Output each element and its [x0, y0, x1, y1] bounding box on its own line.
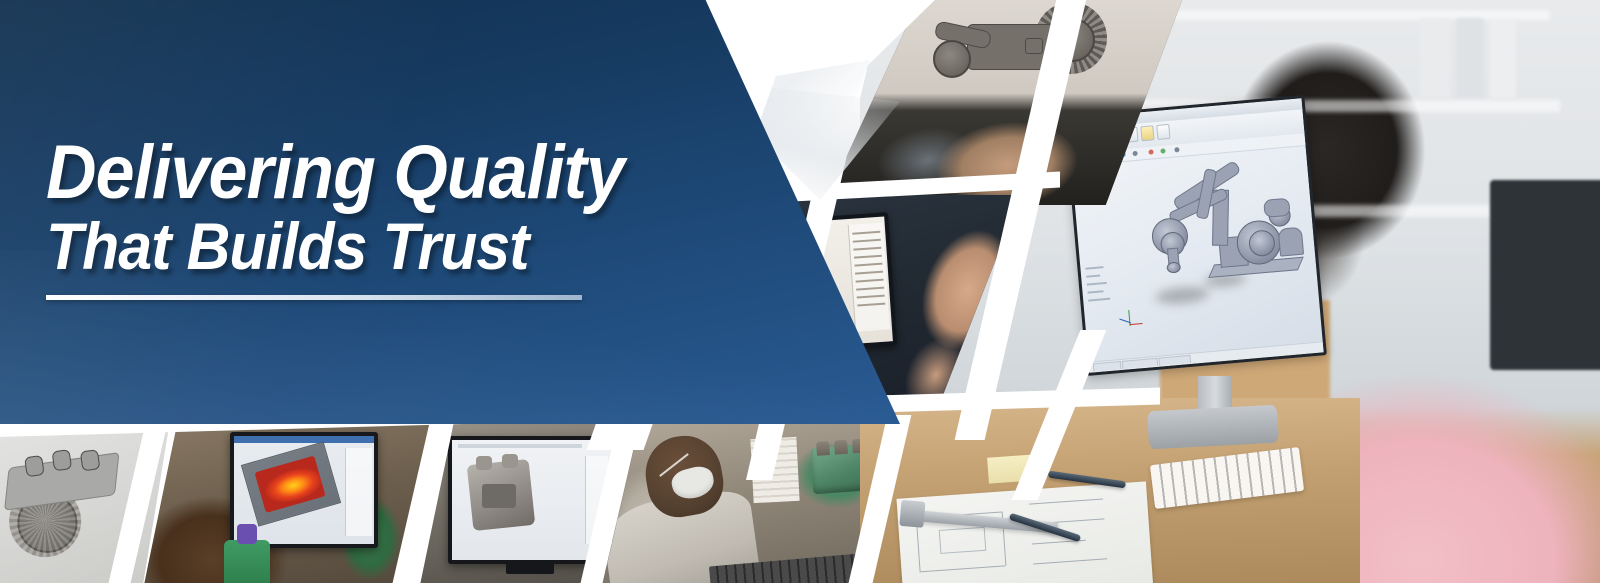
- caliper-jaw: [899, 500, 925, 528]
- panel-row: [855, 271, 883, 275]
- panel-row: [856, 279, 884, 283]
- bottle-cap: [237, 524, 257, 544]
- panel-row: [853, 239, 881, 243]
- app-title-bar: [234, 436, 374, 443]
- engine-cylinder-1: [816, 441, 830, 456]
- assembly-bearing-block: [1278, 227, 1304, 257]
- feature-tree-item: [1085, 266, 1103, 270]
- feature-tree-item: [1088, 298, 1110, 302]
- panel-row: [856, 287, 884, 291]
- cad-gear-assembly-drawing: [915, 0, 1125, 96]
- blueprint-line: [1029, 498, 1103, 504]
- sim-property-panel: [345, 448, 372, 536]
- monitor-screen: [452, 440, 612, 560]
- toolbar-dot-7: [1174, 147, 1179, 152]
- assembly-motor-cylinder: [1263, 198, 1290, 218]
- blueprint-line: [939, 527, 987, 554]
- feature-tree-item: [1087, 290, 1103, 293]
- toolbar-dot-6: [1160, 148, 1165, 153]
- office-shelf-1: [1130, 10, 1550, 20]
- heatmap-gradient: [254, 456, 325, 513]
- office-binder-1: [1420, 18, 1450, 98]
- blueprint-line: [920, 565, 1006, 572]
- panel-row: [853, 247, 881, 251]
- headline-line-2: That Builds Trust: [46, 214, 624, 279]
- monitor-foot: [1147, 405, 1279, 450]
- headline-underline-rule: [46, 295, 582, 300]
- panel-row: [852, 231, 880, 235]
- engine-cylinder-2: [834, 440, 848, 455]
- tile-desk-with-blueprints-and-calipers: [860, 398, 1360, 583]
- thermal-simulation-model: [241, 441, 341, 526]
- casting-boss-2: [502, 454, 518, 468]
- gear-pin: [1025, 38, 1043, 54]
- cad-toolbar: [458, 444, 582, 448]
- gear-bearing: [933, 40, 971, 78]
- assembly-effector-tip: [1166, 261, 1181, 273]
- toolbar-dot-5: [1148, 149, 1153, 154]
- feature-tree-item: [1086, 274, 1100, 277]
- ribbon-chip-6: [1156, 124, 1170, 140]
- panel-row: [857, 295, 885, 299]
- water-bottle: [224, 540, 270, 583]
- blueprint-line: [1033, 558, 1107, 564]
- feature-tree-item: [1087, 282, 1107, 286]
- panel-row: [854, 263, 882, 267]
- office-binder-2: [1456, 18, 1484, 98]
- monitor-base: [506, 560, 554, 574]
- hero-banner: Delivering Quality That Builds Trust: [0, 0, 1600, 583]
- ribbon-chip-5: [1140, 125, 1154, 141]
- headline-line-1: Delivering Quality: [46, 136, 624, 210]
- headline-block: Delivering Quality That Builds Trust: [46, 136, 674, 300]
- toolbar-dot-4: [1132, 151, 1137, 156]
- panel-row: [857, 303, 885, 307]
- model-shadow-left: [1155, 285, 1210, 306]
- background-monitor-back: [1490, 180, 1600, 370]
- axis-x: [1129, 323, 1142, 325]
- gear-boss-3: [80, 449, 101, 471]
- casting-cavity: [482, 484, 516, 508]
- desk-keyboard: [1150, 447, 1304, 509]
- cad-property-panel: [848, 223, 890, 332]
- casting-boss-1: [476, 456, 492, 470]
- office-binder-3: [1490, 20, 1516, 98]
- gear-boss-1: [24, 455, 45, 477]
- gear-boss-2: [52, 449, 73, 471]
- panel-row: [854, 255, 882, 259]
